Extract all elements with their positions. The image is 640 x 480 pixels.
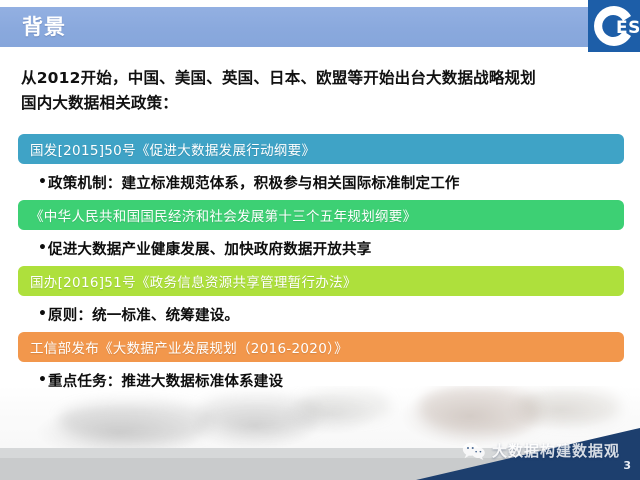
policy-bar-2: 《中华人民共和国国民经济和社会发展第十三个五年规划纲要》 xyxy=(18,200,624,230)
slide-canvas: 背景 ESI 从2012开始，中国、美国、英国、日本、欧盟等开始出台大数据战略规… xyxy=(0,0,640,480)
heading-line-2: 国内大数据相关政策： xyxy=(21,91,621,116)
policy-bullet-text-1: 政策机制：建立标准规范体系，积极参与相关国际标准制定工作 xyxy=(48,172,460,193)
policy-bar-4: 工信部发布《大数据产业发展规划（2016-2020）》 xyxy=(18,332,624,362)
policy-bar-3: 国办[2016]51号《政务信息资源共享管理暂行办法》 xyxy=(18,266,624,296)
watermark-text: 大数据构建数据观 xyxy=(492,440,620,461)
policy-list: 国发[2015]50号《促进大数据发展行动纲要》 • 政策机制：建立标准规范体系… xyxy=(0,134,640,398)
policy-bullet-2: • 促进大数据产业健康发展、加快政府数据开放共享 xyxy=(38,230,640,266)
slide-heading: 从2012开始，中国、美国、英国、日本、欧盟等开始出台大数据战略规划 国内大数据… xyxy=(21,66,621,116)
bullet-marker-icon: • xyxy=(38,175,48,189)
heading-line-1: 从2012开始，中国、美国、英国、日本、欧盟等开始出台大数据战略规划 xyxy=(21,66,621,91)
page-title: 背景 xyxy=(22,13,66,41)
bullet-marker-icon: • xyxy=(38,307,48,321)
policy-bullet-text-2: 促进大数据产业健康发展、加快政府数据开放共享 xyxy=(48,238,371,259)
policy-bullet-text-4: 重点任务：推进大数据标准体系建设 xyxy=(48,370,283,391)
wechat-icon xyxy=(462,441,486,461)
esi-logo: ESI xyxy=(588,0,640,52)
policy-bar-label-4: 工信部发布《大数据产业发展规划（2016-2020）》 xyxy=(30,337,348,357)
svg-text:ESI: ESI xyxy=(616,18,640,38)
header-bar xyxy=(0,7,640,47)
policy-bullet-1: • 政策机制：建立标准规范体系，积极参与相关国际标准制定工作 xyxy=(38,164,640,200)
policy-bar-1: 国发[2015]50号《促进大数据发展行动纲要》 xyxy=(18,134,624,164)
bullet-marker-icon: • xyxy=(38,241,48,255)
policy-bar-label-3: 国办[2016]51号《政务信息资源共享管理暂行办法》 xyxy=(30,271,357,291)
policy-bar-label-2: 《中华人民共和国国民经济和社会发展第十三个五年规划纲要》 xyxy=(30,205,416,225)
wechat-watermark: 大数据构建数据观 xyxy=(462,440,620,461)
policy-bullet-3: • 原则：统一标准、统筹建设。 xyxy=(38,296,640,332)
page-number: 3 xyxy=(623,459,631,472)
policy-bullet-text-3: 原则：统一标准、统筹建设。 xyxy=(48,304,239,325)
bullet-marker-icon: • xyxy=(38,373,48,387)
policy-bullet-4: • 重点任务：推进大数据标准体系建设 xyxy=(38,362,640,398)
policy-bar-label-1: 国发[2015]50号《促进大数据发展行动纲要》 xyxy=(30,139,315,159)
